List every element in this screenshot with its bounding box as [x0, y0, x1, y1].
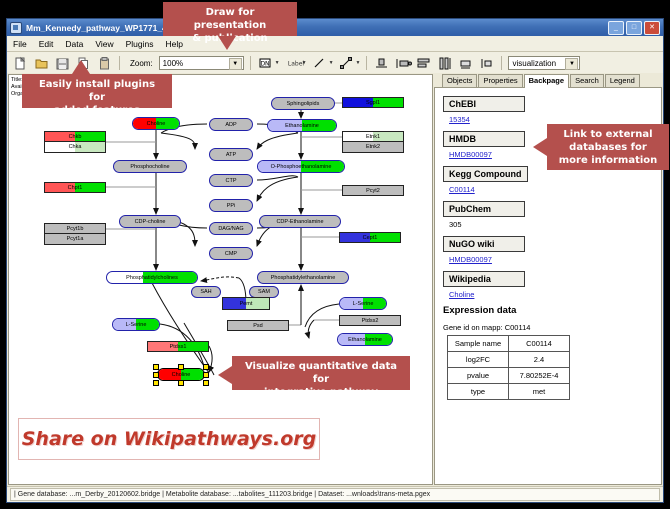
node-label: Pcyt1a: [67, 236, 84, 242]
anchor-tool[interactable]: ▼: [338, 55, 361, 72]
menu-item-data[interactable]: Data: [63, 39, 85, 49]
node-label: Chpt1: [68, 185, 83, 191]
node-label: Psd: [253, 323, 262, 329]
chevron-down-icon[interactable]: ▼: [356, 60, 361, 66]
db-value: 305: [449, 220, 661, 229]
node-ethanolamine-top[interactable]: Ethanolamine: [267, 119, 337, 132]
node-label: Phosphocholine: [130, 164, 169, 170]
node-label: CDP-Ethanolamine: [276, 219, 323, 225]
callout-draw-tail: [218, 36, 236, 50]
expr-key: Sample name: [448, 336, 509, 352]
visualization-combobox[interactable]: visualization ▼: [508, 56, 580, 70]
new-icon[interactable]: [12, 55, 29, 72]
selection-handle[interactable]: [178, 364, 184, 370]
node-o-phosphoethanolamine[interactable]: O-Phosphoethanolamine: [257, 160, 345, 173]
node-label: Sphingolipids: [287, 101, 320, 107]
db-title: Kegg Compound: [443, 166, 528, 182]
open-icon[interactable]: [33, 55, 50, 72]
node-label: Phosphatidylethanolamine: [271, 275, 336, 281]
chevron-down-icon[interactable]: ▼: [229, 58, 242, 70]
datanode-icon[interactable]: DN: [257, 55, 274, 72]
callout-draw: Draw for presentation & publication: [163, 2, 297, 36]
maximize-button[interactable]: □: [626, 21, 642, 35]
node-label: Ethanolamine: [348, 337, 382, 343]
label-tool[interactable]: Label ▼: [284, 55, 307, 72]
node-etnk1[interactable]: Etnk1: [342, 131, 404, 142]
menu-item-view[interactable]: View: [93, 39, 115, 49]
node-sah[interactable]: SAH: [191, 286, 221, 298]
callout-visualize: Visualize quantitative data for integrat…: [232, 356, 410, 390]
node-ptdss2[interactable]: Ptdss2: [339, 315, 401, 326]
expr-key: pvalue: [448, 368, 509, 384]
toolbar-separator-1: [119, 56, 120, 70]
callout-plugins-tail: [72, 60, 90, 74]
expression-data-heading: Expression data: [443, 305, 661, 316]
node-label: O-Phosphoethanolamine: [271, 164, 332, 170]
node-label: Choline: [147, 121, 166, 127]
status-bar: | Gene database: ...m_Derby_20120602.bri…: [7, 486, 663, 502]
table-row: pvalue 7.80252E-4: [448, 368, 570, 384]
table-row: Sample name C00114: [448, 336, 570, 352]
db-block-chebi: ChEBI 15354: [443, 94, 661, 124]
node-chkb[interactable]: Chkb: [44, 131, 106, 142]
node-label: Pemt: [240, 301, 253, 307]
node-ctp[interactable]: CTP: [209, 174, 253, 187]
selection-handle[interactable]: [203, 372, 209, 378]
node-phosphatidylcholines[interactable]: Phosphatidylcholines: [106, 271, 198, 284]
menu-item-file[interactable]: File: [11, 39, 29, 49]
node-ppi[interactable]: PPi: [209, 199, 253, 212]
db-link[interactable]: C00114: [449, 185, 661, 194]
datanode-tool[interactable]: DN ▼: [257, 55, 280, 72]
node-cdp-ethanolamine[interactable]: CDP-Ethanolamine: [259, 215, 341, 228]
menu-bar: File Edit Data View Plugins Help: [7, 36, 663, 52]
toolbar-separator-3: [366, 56, 367, 70]
node-label: Sgpl1: [366, 100, 380, 106]
node-sphingolipids[interactable]: Sphingolipids: [271, 97, 335, 110]
status-text: | Gene database: ...m_Derby_20120602.bri…: [10, 488, 660, 501]
minimize-button[interactable]: _: [608, 21, 624, 35]
node-l-serine-right[interactable]: L-Serine: [339, 297, 387, 310]
node-label: CMP: [225, 251, 237, 257]
selection-handle[interactable]: [153, 380, 159, 386]
db-link[interactable]: Choline: [449, 290, 661, 299]
table-row: log2FC 2.4: [448, 352, 570, 368]
db-title: NuGO wiki: [443, 236, 525, 252]
node-pemt[interactable]: Pemt: [222, 297, 270, 310]
tab-backpage[interactable]: Backpage: [524, 74, 569, 88]
expr-value: 2.4: [509, 352, 570, 368]
node-label: CTP: [226, 178, 237, 184]
db-block-wikipedia: Wikipedia Choline: [443, 269, 661, 299]
db-link[interactable]: 15354: [449, 115, 661, 124]
line-tool[interactable]: ▼: [311, 55, 334, 72]
callout-share: Share on Wikipathways.org: [18, 418, 320, 460]
node-label: Ptdss2: [362, 318, 379, 324]
app-icon: [10, 22, 22, 34]
node-label: Etnk1: [366, 134, 380, 140]
bring-front-icon[interactable]: [478, 55, 495, 72]
node-adp[interactable]: ADP: [209, 118, 253, 131]
node-label: CDP-choline: [135, 219, 166, 225]
node-phosphocholine[interactable]: Phosphocholine: [113, 160, 187, 173]
callout-visualize-tail: [218, 366, 232, 384]
selection-handle[interactable]: [178, 380, 184, 386]
zoom-combobox[interactable]: 100% ▼: [159, 56, 244, 70]
node-label: Chkb: [69, 134, 82, 140]
tab-search[interactable]: Search: [570, 74, 604, 87]
node-label: DAG/NAG: [218, 226, 243, 232]
db-title: PubChem: [443, 201, 525, 217]
node-label: Ethanolamine: [285, 123, 319, 129]
tab-properties[interactable]: Properties: [478, 74, 522, 87]
node-label: Pcyt2: [366, 188, 380, 194]
window-controls: _ □ ✕: [608, 21, 660, 35]
node-phosphatidylethanolamine[interactable]: Phosphatidylethanolamine: [257, 271, 349, 284]
callout-links: Link to external databases for more info…: [547, 124, 669, 170]
selection-handle[interactable]: [153, 364, 159, 370]
visualization-value: visualization: [512, 59, 556, 68]
node-l-serine-left[interactable]: L-Serine: [112, 318, 160, 331]
toolbar: Zoom: 100% ▼ DN ▼ Label ▼ ▼: [7, 52, 663, 75]
zoom-label: Zoom:: [130, 59, 153, 68]
node-sgpl1[interactable]: Sgpl1: [342, 97, 404, 108]
callout-plugins: Easily install plugins for added feature…: [22, 74, 172, 108]
gene-id-line: Gene id on mapp: C00114: [443, 323, 661, 332]
node-label: Cept1: [363, 235, 378, 241]
node-pcyt1b[interactable]: Pcyt1b: [44, 223, 106, 234]
tab-legend[interactable]: Legend: [605, 74, 640, 87]
align-icon[interactable]: [373, 55, 390, 72]
selection-handle[interactable]: [203, 380, 209, 386]
callout-links-tail: [533, 138, 547, 156]
node-dag-nag[interactable]: DAG/NAG: [209, 222, 253, 235]
node-label: SAM: [258, 289, 270, 295]
distribute-icon[interactable]: [415, 55, 432, 72]
node-chka[interactable]: Chka: [44, 142, 106, 153]
stack-icon[interactable]: [436, 55, 453, 72]
node-label: ADP: [225, 122, 236, 128]
node-label: PPi: [227, 203, 236, 209]
db-title: Wikipedia: [443, 271, 525, 287]
node-label: Etnk2: [366, 144, 380, 150]
node-etnk2[interactable]: Etnk2: [342, 142, 404, 153]
node-ptdss1[interactable]: Ptdss1: [147, 341, 209, 352]
node-cept1[interactable]: Cept1: [339, 232, 401, 243]
node-label: L-Serine: [126, 322, 147, 328]
node-label: SAH: [200, 289, 211, 295]
db-link[interactable]: HMDB00097: [449, 255, 661, 264]
zoom-value: 100%: [163, 59, 183, 68]
node-cmp[interactable]: CMP: [209, 247, 253, 260]
node-label: ATP: [226, 152, 236, 158]
anchor-icon[interactable]: [338, 55, 355, 72]
node-cdp-choline[interactable]: CDP-choline: [119, 215, 181, 228]
save-icon[interactable]: [54, 55, 71, 72]
label-icon[interactable]: Label: [284, 55, 301, 72]
menu-item-edit[interactable]: Edit: [37, 39, 56, 49]
svg-text:DN: DN: [260, 60, 269, 67]
node-label: Choline: [172, 372, 191, 378]
order-icon[interactable]: [457, 55, 474, 72]
menu-item-plugins[interactable]: Plugins: [124, 39, 156, 49]
db-title: HMDB: [443, 131, 525, 147]
screenshot-root: Mm_Kennedy_pathway_WP1771_45176.gpml - P…: [0, 0, 670, 509]
toolbar-separator-4: [501, 56, 502, 70]
toolbar-separator-2: [250, 56, 251, 70]
db-title: ChEBI: [443, 96, 525, 112]
node-label: Chka: [69, 144, 82, 150]
node-chpt1[interactable]: Chpt1: [44, 182, 106, 193]
node-choline-top[interactable]: Choline: [132, 117, 180, 130]
side-panel-tabs: Objects Properties Backpage Search Legen…: [434, 74, 662, 88]
node-pcyt2[interactable]: Pcyt2: [342, 185, 404, 196]
expr-value: 7.80252E-4: [509, 368, 570, 384]
selection-handle[interactable]: [203, 364, 209, 370]
paste-icon[interactable]: [96, 55, 113, 72]
close-button[interactable]: ✕: [644, 21, 660, 35]
node-psd[interactable]: Psd: [227, 320, 289, 331]
share-text: Share on Wikipathways.org: [22, 428, 316, 450]
table-row: type met: [448, 384, 570, 400]
node-label: Phosphatidylcholines: [126, 275, 178, 281]
node-pcyt1a[interactable]: Pcyt1a: [44, 234, 106, 245]
expr-key: log2FC: [448, 352, 509, 368]
db-block-nugo-wiki: NuGO wiki HMDB00097: [443, 234, 661, 264]
expression-table: Sample name C00114 log2FC 2.4 pvalue 7.8…: [447, 335, 570, 400]
expr-key: type: [448, 384, 509, 400]
line-icon[interactable]: [311, 55, 328, 72]
node-ethanolamine-right[interactable]: Ethanolamine: [337, 333, 393, 346]
chevron-down-icon[interactable]: ▼: [275, 60, 280, 66]
selection-handle[interactable]: [153, 372, 159, 378]
node-label: Ptdss1: [170, 344, 187, 350]
svg-text:Label: Label: [288, 60, 305, 67]
chevron-down-icon[interactable]: ▼: [565, 58, 578, 70]
db-block-pubchem: PubChem 305: [443, 199, 661, 229]
chevron-down-icon[interactable]: ▼: [329, 60, 334, 66]
node-label: L-Serine: [353, 301, 374, 307]
tab-objects[interactable]: Objects: [442, 74, 477, 87]
expr-value: met: [509, 384, 570, 400]
group-icon[interactable]: [394, 55, 411, 72]
node-atp[interactable]: ATP: [209, 148, 253, 161]
expr-value: C00114: [509, 336, 570, 352]
title-bar: Mm_Kennedy_pathway_WP1771_45176.gpml - P…: [7, 19, 663, 36]
node-label: Pcyt1b: [67, 226, 84, 232]
menu-item-help[interactable]: Help: [164, 39, 185, 49]
